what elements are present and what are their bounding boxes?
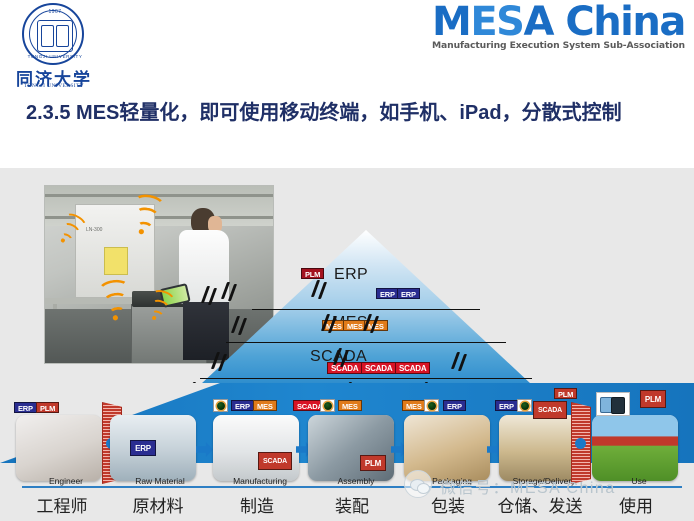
use-photo <box>592 415 678 481</box>
packaging-photo <box>404 415 490 481</box>
chain-label-en-mfg: Manufacturing <box>208 476 312 486</box>
chain-chip-mes: MES <box>338 400 362 411</box>
engineer-photo <box>16 415 102 481</box>
pyramid-chip-scada: SCADA <box>395 362 430 374</box>
chain-label-en-raw: Raw Material <box>108 476 212 486</box>
chain-chip-plm: PLM <box>554 388 577 399</box>
chain-label-en-assembly: Assembly <box>304 476 408 486</box>
chain-label-en-use: Use <box>587 476 691 486</box>
chain-baseline <box>22 486 682 488</box>
sensor-icon <box>424 399 439 412</box>
chain-chip-scada: SCADA <box>258 452 292 470</box>
chain-chip-erp: ERP <box>231 400 254 411</box>
chain-chip-erp: ERP <box>443 400 466 411</box>
smartwatch-icon <box>596 392 630 416</box>
chain-label-cn-mfg: 制造 <box>205 492 309 517</box>
chain-card-packaging[interactable] <box>404 415 490 481</box>
value-chain-row: ERP PLM Engineer 工程师 ERP Raw Material 原材… <box>0 0 694 353</box>
chain-label-cn-use: 使用 <box>584 492 688 517</box>
chain-card-manufacturing[interactable] <box>213 415 299 481</box>
chain-label-cn-engineer: 工程师 <box>10 492 114 517</box>
firewall-node-icon <box>575 438 586 449</box>
chain-chip-plm: PLM <box>36 402 59 413</box>
chain-chip-plm: PLM <box>640 390 666 408</box>
chain-card-use[interactable] <box>592 415 678 481</box>
pyramid-divider <box>200 378 532 379</box>
chain-label-en-packaging: Packaging <box>400 476 504 486</box>
chain-chip-erp: ERP <box>495 400 518 411</box>
manufacturing-photo <box>213 415 299 481</box>
chain-chip-erp: ERP <box>130 440 156 456</box>
chain-label-cn-raw: 原材料 <box>106 492 210 517</box>
chain-chip-scada: SCADA <box>533 401 567 419</box>
chain-chip-mes: MES <box>402 400 426 411</box>
sensor-icon <box>320 399 335 412</box>
chain-label-cn-assembly: 装配 <box>300 492 404 517</box>
pyramid-chip-scada: SCADA <box>361 362 396 374</box>
chain-chip-erp: ERP <box>14 402 37 413</box>
chain-chip-mes: MES <box>253 400 277 411</box>
chain-label-cn-storage: 仓储、发送 <box>488 492 592 517</box>
chain-chip-plm: PLM <box>360 455 386 471</box>
chain-card-engineer[interactable] <box>16 415 102 481</box>
slide-root: 1907 TONGJI UNIVERSITY 同济大学 TONGJI UNIVE… <box>0 0 694 521</box>
chain-label-cn-packaging: 包装 <box>396 492 500 517</box>
sensor-icon <box>213 399 228 412</box>
sensor-icon <box>517 399 532 412</box>
